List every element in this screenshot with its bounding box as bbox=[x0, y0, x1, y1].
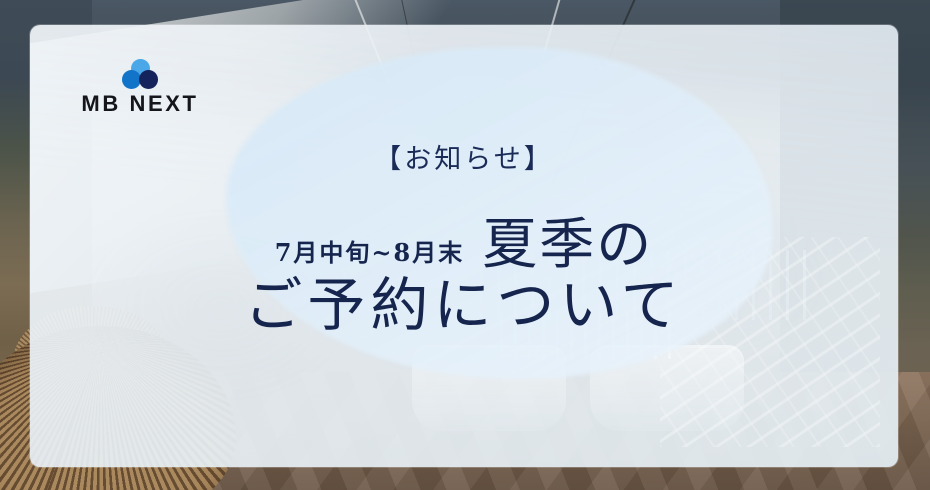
notice-headline-main: 夏季の bbox=[482, 217, 653, 272]
notice-card: MB NEXT 【お知らせ】 7月中旬~8月末 夏季の ご予約について bbox=[30, 25, 898, 467]
notice-period: 7月中旬~8月末 bbox=[275, 233, 465, 268]
notice-eyebrow: 【お知らせ】 bbox=[30, 137, 898, 176]
logo-dot-right-icon bbox=[139, 70, 158, 89]
notice-headline-row: 7月中旬~8月末 夏季の bbox=[30, 217, 898, 272]
three-circles-icon bbox=[122, 59, 158, 89]
logo-wordmark: MB NEXT bbox=[78, 93, 202, 115]
notice-headline-sub: ご予約について bbox=[30, 275, 898, 336]
notice-banner: MB NEXT 【お知らせ】 7月中旬~8月末 夏季の ご予約について bbox=[0, 0, 930, 490]
brand-logo: MB NEXT bbox=[78, 59, 202, 115]
